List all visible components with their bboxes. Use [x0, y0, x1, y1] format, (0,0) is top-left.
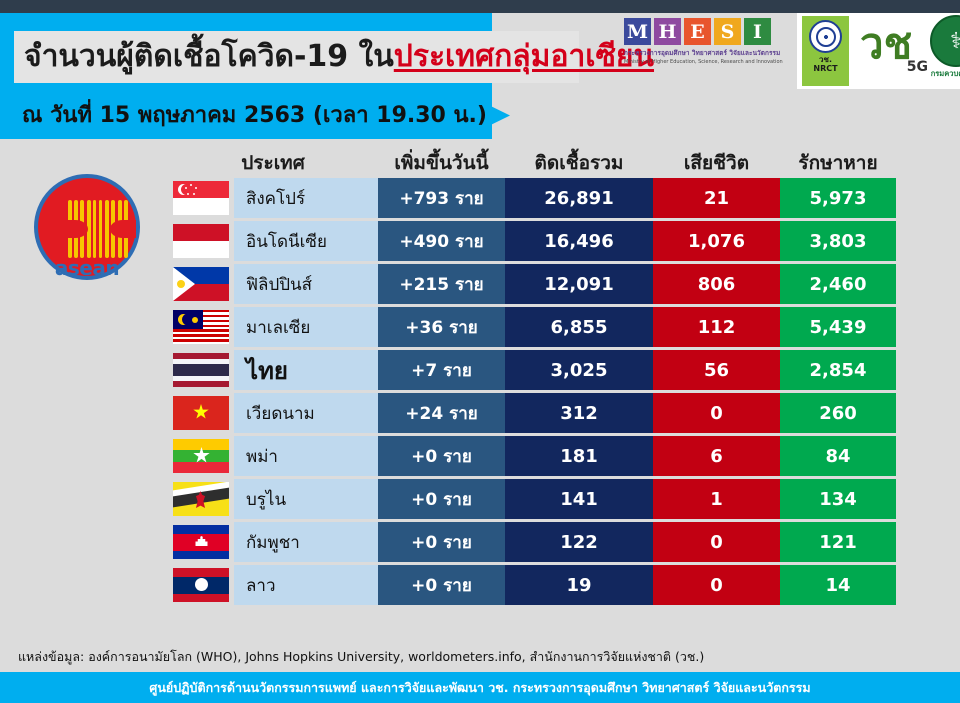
- cell-country-name: มาเลเซีย: [234, 307, 378, 347]
- cell-total-cases: 16,496: [505, 221, 653, 261]
- cell-new-cases: +215 ราย: [378, 264, 505, 304]
- asean-rice-stalks-icon: [68, 200, 130, 258]
- footer-bar-text: ศูนย์ปฏิบัติการด้านนวัตกรรมการแพทย์ และก…: [149, 678, 810, 698]
- asean-stalk-pinch-right: [110, 220, 136, 238]
- nrct-gear-icon: [816, 27, 836, 47]
- cell-deaths: 0: [653, 393, 780, 433]
- column-header-new-cases: เพิ่มขึ้นวันนี้: [378, 148, 505, 178]
- cell-country-name: บรูไน: [234, 479, 378, 519]
- column-header-recovered: รักษาหาย: [780, 148, 896, 178]
- mhesi-letter-e: E: [684, 18, 711, 45]
- cell-deaths: 112: [653, 307, 780, 347]
- cell-recovered: 84: [780, 436, 896, 476]
- flag-part: [173, 568, 229, 577]
- cell-flag: [168, 307, 234, 347]
- flag-part: [173, 551, 229, 560]
- table-row: อินโดนีเซีย+490 ราย16,4961,0763,803: [168, 221, 896, 261]
- cell-recovered: 5,439: [780, 307, 896, 347]
- column-header-country: ประเทศ: [168, 148, 378, 178]
- cell-deaths: 1,076: [653, 221, 780, 261]
- cell-country-name: อินโดนีเซีย: [234, 221, 378, 261]
- covid-table: ประเทศ เพิ่มขึ้นวันนี้ ติดเชื้อรวม เสียช…: [168, 146, 896, 608]
- mhesi-letter-blocks: MHESI: [624, 18, 792, 45]
- ddc-caduceus-icon: ⚕: [930, 15, 960, 67]
- cell-flag: [168, 393, 234, 433]
- cell-deaths: 0: [653, 522, 780, 562]
- wor-5g-logo: วช 5G: [860, 23, 926, 75]
- asean-stalk: [99, 200, 102, 258]
- table-row: มาเลเซีย+36 ราย6,8551125,439: [168, 307, 896, 347]
- logo-strip: MHESI กระทรวงการอุดมศึกษา วิทยาศาสตร์ วิ…: [492, 13, 960, 89]
- cell-recovered: 2,460: [780, 264, 896, 304]
- flag-myanmar: [173, 439, 229, 473]
- ddc-thai-label: กรมควบคุมโรค: [931, 68, 960, 80]
- cell-new-cases: +490 ราย: [378, 221, 505, 261]
- flag-part: [173, 224, 229, 241]
- cell-recovered: 5,973: [780, 178, 896, 218]
- cell-total-cases: 3,025: [505, 350, 653, 390]
- cell-deaths: 56: [653, 350, 780, 390]
- cell-flag: [168, 264, 234, 304]
- cell-recovered: 3,803: [780, 221, 896, 261]
- cell-country-name: พม่า: [234, 436, 378, 476]
- flag-part: [190, 184, 192, 186]
- flag-thailand: [173, 353, 229, 387]
- flag-philippines: [173, 267, 229, 301]
- cell-total-cases: 26,891: [505, 178, 653, 218]
- flag-laos: [173, 568, 229, 602]
- cell-flag: [168, 221, 234, 261]
- flag-part: [173, 594, 229, 603]
- nrct-thai-label: วช.: [819, 55, 832, 64]
- flag-indonesia: [173, 224, 229, 258]
- cell-deaths: 0: [653, 565, 780, 605]
- mhesi-letter-i: I: [744, 18, 771, 45]
- title-main-text: จำนวนผู้ติดเชื้อโควิด-19 ใน: [24, 39, 394, 74]
- flag-brunei: [173, 482, 229, 516]
- flag-part: [192, 317, 198, 323]
- cell-new-cases: +0 ราย: [378, 479, 505, 519]
- flag-part: [173, 198, 229, 215]
- infographic-root: จำนวนผู้ติดเชื้อโควิด-19 ในประเทศกลุ่มอา…: [0, 0, 960, 703]
- cell-recovered: 121: [780, 522, 896, 562]
- mhesi-letter-s: S: [714, 18, 741, 45]
- cell-recovered: 134: [780, 479, 896, 519]
- table-row: ไทย+7 ราย3,025562,854: [168, 350, 896, 390]
- table-row: บรูไน+0 ราย1411134: [168, 479, 896, 519]
- table-row: พม่า+0 ราย181684: [168, 436, 896, 476]
- flag-part: [182, 314, 192, 325]
- cell-country-name: ฟิลิปปินส์: [234, 264, 378, 304]
- mhesi-english-name: Ministry of Higher Education, Science, R…: [624, 59, 792, 65]
- flag-part: [173, 462, 229, 473]
- cell-flag: [168, 350, 234, 390]
- top-dark-bar: [0, 0, 960, 13]
- flag-singapore: [173, 181, 229, 215]
- cell-recovered: 260: [780, 393, 896, 433]
- asean-stalk-pinch-left: [62, 220, 88, 238]
- asean-circle-icon: asean: [34, 174, 140, 280]
- cell-country-name: เวียดนาม: [234, 393, 378, 433]
- nrct-emblem-icon: [809, 20, 842, 53]
- cell-total-cases: 12,091: [505, 264, 653, 304]
- flag-vietnam: [173, 396, 229, 430]
- cell-total-cases: 19: [505, 565, 653, 605]
- table-row: ฟิลิปปินส์+215 ราย12,0918062,460: [168, 264, 896, 304]
- cell-new-cases: +0 ราย: [378, 436, 505, 476]
- mhesi-letter-h: H: [654, 18, 681, 45]
- table-row: เวียดนาม+24 ราย3120260: [168, 393, 896, 433]
- flag-part: [173, 381, 229, 387]
- flag-malaysia: [173, 310, 229, 344]
- flag-part: [177, 280, 185, 288]
- cell-new-cases: +793 ราย: [378, 178, 505, 218]
- table-body: สิงคโปร์+793 ราย26,891215,973อินโดนีเซีย…: [168, 178, 896, 605]
- flag-part: [173, 342, 229, 344]
- table-header-row: ประเทศ เพิ่มขึ้นวันนี้ ติดเชื้อรวม เสียช…: [168, 146, 896, 178]
- mhesi-letter-m: M: [624, 18, 651, 45]
- cell-total-cases: 6,855: [505, 307, 653, 347]
- table-row: ลาว+0 ราย19014: [168, 565, 896, 605]
- cell-deaths: 806: [653, 264, 780, 304]
- cell-total-cases: 181: [505, 436, 653, 476]
- cell-flag: [168, 436, 234, 476]
- footer-bar: ศูนย์ปฏิบัติการด้านนวัตกรรมการแพทย์ และก…: [0, 672, 960, 703]
- cell-new-cases: +0 ราย: [378, 565, 505, 605]
- cell-recovered: 14: [780, 565, 896, 605]
- asean-wordmark: asean: [38, 256, 136, 280]
- asean-emblem: asean: [26, 170, 146, 285]
- cell-new-cases: +0 ราย: [378, 522, 505, 562]
- cell-country-name: ลาว: [234, 565, 378, 605]
- asean-stalk: [93, 200, 96, 258]
- cell-deaths: 21: [653, 178, 780, 218]
- report-date: ณ วันที่ 15 พฤษภาคม 2563 (เวลา 19.30 น.): [22, 92, 487, 139]
- cell-new-cases: +7 ราย: [378, 350, 505, 390]
- cell-country-name: สิงคโปร์: [234, 178, 378, 218]
- flag-part: [173, 525, 229, 534]
- cell-flag: [168, 565, 234, 605]
- cell-flag: [168, 178, 234, 218]
- source-note: แหล่งข้อมูล: องค์การอนามัยโลก (WHO), Joh…: [18, 647, 704, 667]
- cell-total-cases: 312: [505, 393, 653, 433]
- column-header-deaths: เสียชีวิต: [653, 148, 780, 178]
- cell-total-cases: 141: [505, 479, 653, 519]
- cell-country-name: ไทย: [234, 350, 378, 390]
- nrct-english-label: NRCT: [813, 64, 837, 73]
- cell-new-cases: +36 ราย: [378, 307, 505, 347]
- cell-flag: [168, 479, 234, 519]
- ddc-logo: ⚕ กรมควบคุมโรค: [920, 15, 960, 87]
- flag-part: [195, 578, 208, 591]
- cell-country-name: กัมพูชา: [234, 522, 378, 562]
- column-header-total-cases: ติดเชื้อรวม: [505, 148, 653, 178]
- flag-part: [173, 364, 229, 376]
- cell-deaths: 6: [653, 436, 780, 476]
- cell-flag: [168, 522, 234, 562]
- table-row: กัมพูชา+0 ราย1220121: [168, 522, 896, 562]
- mhesi-logo: MHESI กระทรวงการอุดมศึกษา วิทยาศาสตร์ วิ…: [624, 18, 792, 80]
- table-row: สิงคโปร์+793 ราย26,891215,973: [168, 178, 896, 218]
- cell-recovered: 2,854: [780, 350, 896, 390]
- cell-new-cases: +24 ราย: [378, 393, 505, 433]
- asean-stalk: [105, 200, 109, 258]
- cell-deaths: 1: [653, 479, 780, 519]
- flag-cambodia: [173, 525, 229, 559]
- flag-part: [173, 241, 229, 258]
- mhesi-thai-name: กระทรวงการอุดมศึกษา วิทยาศาสตร์ วิจัยและ…: [624, 48, 792, 58]
- nrct-logo: วช. NRCT: [802, 16, 849, 86]
- cell-total-cases: 122: [505, 522, 653, 562]
